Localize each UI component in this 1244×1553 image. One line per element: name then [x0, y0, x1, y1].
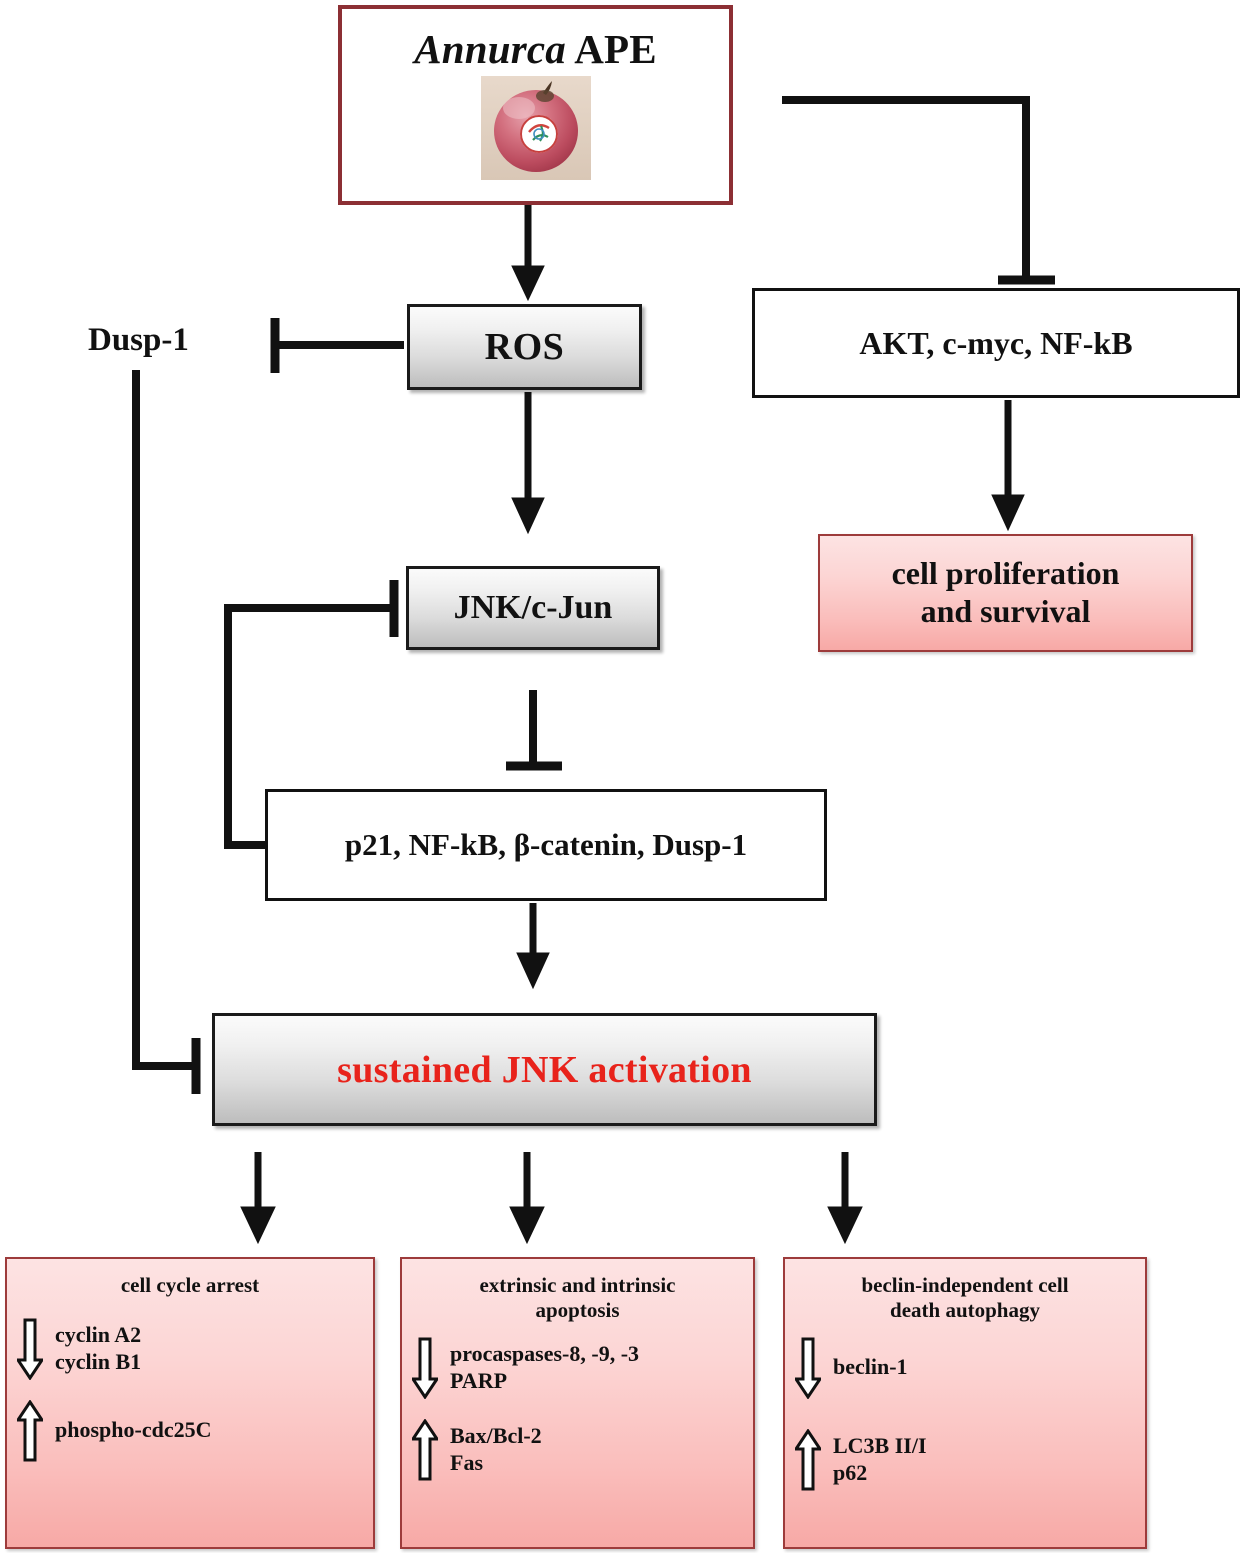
edge-sustained-to-cell-cycle-arrest	[241, 1152, 275, 1243]
block-arrow-up-icon	[17, 1400, 43, 1462]
node-ros: ROS	[407, 304, 642, 390]
edge-ros-to-jnk	[512, 392, 544, 533]
node-akt-cmyc-nfkb: AKT, c-myc, NF-kB	[752, 288, 1240, 398]
node-akt-label: AKT, c-myc, NF-kB	[859, 325, 1132, 362]
edge-jnk-to-p21	[506, 690, 562, 766]
block-arrow-down-icon	[17, 1318, 43, 1380]
edge-p21-to-sustained	[517, 903, 549, 988]
outcome-items: LC3B II/I p62	[833, 1433, 927, 1487]
edge-ros-to-dusp1	[275, 318, 404, 373]
outcome-items: cyclin A2 cyclin B1	[55, 1322, 141, 1376]
annurca-title: Annurca APE	[414, 29, 657, 70]
block-arrow-down-icon	[795, 1337, 821, 1399]
outcome-box-autophagy: beclin-independent cell death autophagy …	[783, 1257, 1147, 1549]
outcome-group-down: procaspases-8, -9, -3 PARP	[412, 1337, 743, 1399]
node-sustained-label: sustained JNK activation	[337, 1048, 752, 1092]
outcome-title: beclin-independent cell death autophagy	[795, 1273, 1135, 1323]
edge-sustained-to-apoptosis	[510, 1152, 544, 1243]
outcome-group-down: beclin-1	[795, 1337, 1135, 1399]
outcome-title: extrinsic and intrinsic apoptosis	[412, 1273, 743, 1323]
edge-annurca-to-ros	[512, 205, 544, 300]
outcome-items: beclin-1	[833, 1354, 908, 1381]
node-p21-group: p21, NF-kB, β-catenin, Dusp-1	[265, 789, 827, 901]
node-jnk-cjun: JNK/c-Jun	[406, 566, 660, 650]
edge-dusp1-to-sustained	[132, 370, 198, 1094]
edge-sustained-to-autophagy	[828, 1152, 862, 1243]
edge-annurca-to-akt	[782, 100, 1055, 280]
outcome-items: Bax/Bcl-2 Fas	[450, 1423, 542, 1477]
node-cell-proliferation-survival: cell proliferation and survival	[818, 534, 1193, 652]
edge-akt-to-proliferation	[992, 400, 1024, 530]
outcome-group-up: LC3B II/I p62	[795, 1429, 1135, 1491]
node-jnk-label: JNK/c-Jun	[454, 589, 613, 627]
pathway-diagram: Annurca APE	[0, 0, 1244, 1553]
outcome-group-down: cyclin A2 cyclin B1	[17, 1318, 363, 1380]
node-ros-label: ROS	[485, 325, 565, 369]
outcome-title: cell cycle arrest	[17, 1273, 363, 1298]
apple-photo-icon	[481, 76, 591, 180]
node-p21-label: p21, NF-kB, β-catenin, Dusp-1	[345, 827, 747, 863]
node-dusp1: Dusp-1	[88, 322, 189, 359]
outcome-items: phospho-cdc25C	[55, 1417, 211, 1444]
node-dusp1-label: Dusp-1	[88, 322, 189, 358]
block-arrow-down-icon	[412, 1337, 438, 1399]
outcome-group-up: phospho-cdc25C	[17, 1400, 363, 1462]
outcome-group-up: Bax/Bcl-2 Fas	[412, 1419, 743, 1481]
outcome-items: procaspases-8, -9, -3 PARP	[450, 1341, 639, 1395]
outcome-box-apoptosis: extrinsic and intrinsic apoptosis procas…	[400, 1257, 755, 1549]
node-proliferation-label: cell proliferation and survival	[892, 555, 1120, 631]
annurca-species: Annurca	[414, 26, 566, 72]
node-annurca-ape: Annurca APE	[338, 5, 733, 205]
block-arrow-up-icon	[412, 1419, 438, 1481]
block-arrow-up-icon	[795, 1429, 821, 1491]
annurca-suffix: APE	[566, 26, 657, 72]
outcome-box-cell-cycle-arrest: cell cycle arrest cyclin A2 cyclin B1 ph…	[5, 1257, 375, 1549]
node-sustained-jnk-activation: sustained JNK activation	[212, 1013, 877, 1126]
